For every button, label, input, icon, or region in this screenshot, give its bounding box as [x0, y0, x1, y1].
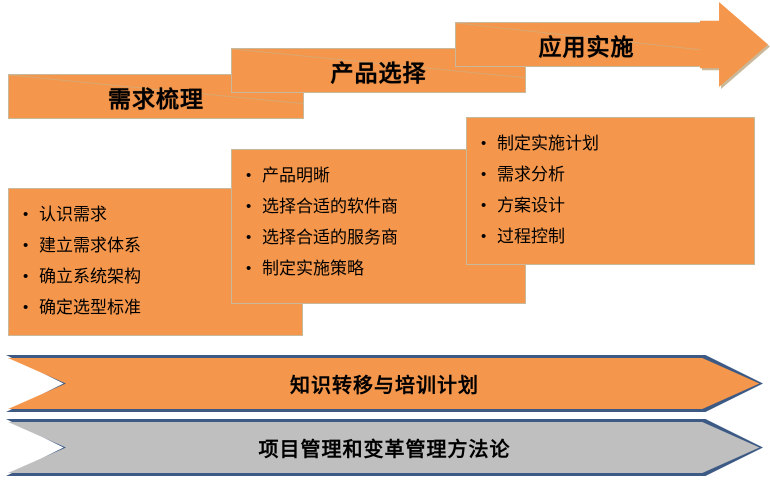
list-item: 制定实施计划	[481, 128, 742, 159]
stage-band-label-2: 产品选择	[331, 54, 427, 88]
stage-detail-box-3: 制定实施计划 需求分析 方案设计 过程控制	[466, 117, 755, 265]
list-item: 过程控制	[481, 221, 742, 252]
list-item: 方案设计	[481, 190, 742, 221]
footer-banner-label-methodology: 项目管理和变革管理方法论	[259, 433, 511, 462]
footer-banner-label-knowledge: 知识转移与培训计划	[290, 369, 479, 398]
footer-banner-knowledge[interactable]: 知识转移与培训计划	[6, 355, 763, 412]
stage-band-label-3: 应用实施	[539, 28, 635, 62]
footer-banner-methodology[interactable]: 项目管理和变革管理方法论	[6, 419, 763, 476]
bullet-list-3: 制定实施计划 需求分析 方案设计 过程控制	[481, 128, 742, 252]
stage-band-label-1: 需求梳理	[108, 80, 204, 114]
list-item: 需求分析	[481, 159, 742, 190]
stage-band-3[interactable]: 应用实施	[455, 22, 718, 67]
process-diagram: 需求梳理 产品选择 应用实施 认识需求 建立需求体系 确立系统架构 确定选型标准…	[0, 0, 770, 481]
